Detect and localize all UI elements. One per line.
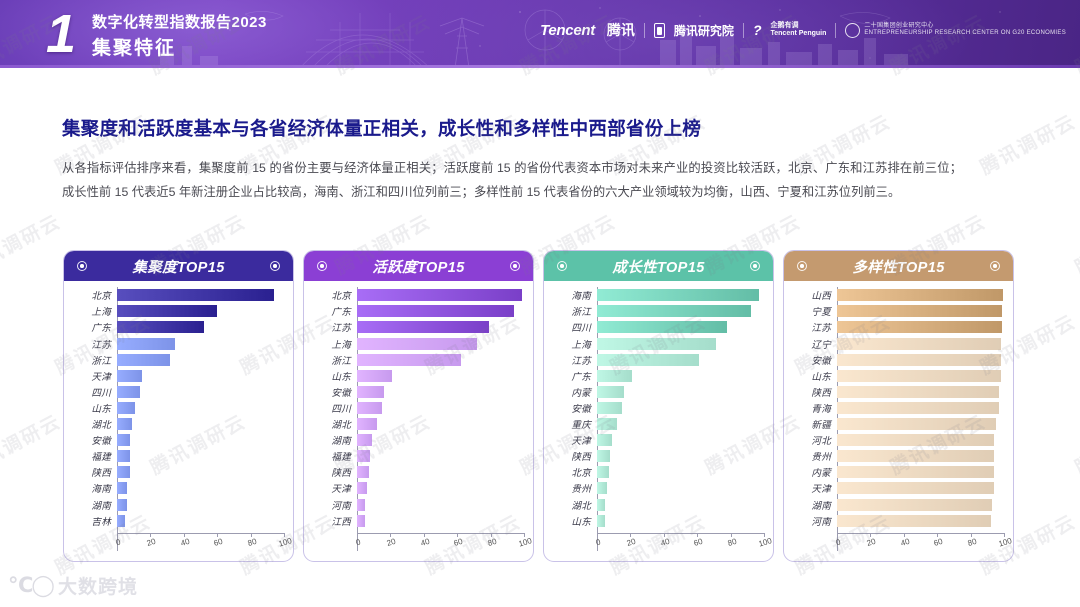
bar-row: 湖北 — [313, 417, 524, 432]
bar-row: 河南 — [793, 513, 1004, 528]
tencent-logo-text: Tencent — [540, 22, 595, 39]
section-title: 集聚特征 — [92, 33, 176, 60]
bar-row: 浙江 — [313, 352, 524, 367]
chart-plot-area: 北京上海广东江苏浙江天津四川山东湖北安徽福建陕西海南湖南吉林0204060801… — [64, 281, 293, 562]
bar-row: 海南 — [553, 288, 764, 303]
slide-page: 1 数字化转型指数报告2023 集聚特征 Tencent 腾讯 腾讯研究院 ? … — [0, 0, 1080, 607]
watermark-text: 腾讯调研云 — [0, 207, 65, 280]
chart-card-header: 集聚度TOP15 — [64, 251, 293, 281]
logo-group: Tencent 腾讯 腾讯研究院 ? 企鹅有调 Tencent Penguin … — [540, 20, 1066, 40]
bar-category-label: 江苏 — [553, 353, 597, 367]
watermark-text: 腾讯调研云 — [975, 107, 1080, 180]
x-axis-tick-label: 0 — [115, 537, 122, 547]
bar-row: 四川 — [553, 320, 764, 335]
bar-row: 河南 — [313, 497, 524, 512]
x-axis-tick-label: 100 — [998, 536, 1013, 548]
bar — [357, 338, 477, 350]
bar — [117, 321, 204, 333]
x-axis-tick — [117, 533, 118, 537]
bar — [117, 338, 175, 350]
x-axis-tick-label: 20 — [866, 537, 877, 548]
x-axis-tick — [184, 533, 185, 537]
bar-row: 广东 — [553, 368, 764, 383]
chart-card: 成长性TOP15海南浙江四川上海江苏广东内蒙安徽重庆天津陕西北京贵州湖北山东02… — [543, 250, 774, 562]
bar-track — [357, 289, 524, 301]
bar-track — [357, 515, 524, 527]
bar-track — [837, 418, 1004, 430]
bar-track — [117, 499, 284, 511]
bar — [597, 515, 605, 527]
bar — [357, 515, 365, 527]
x-axis-tick-label: 60 — [213, 537, 224, 548]
x-axis: 020406080100 — [117, 533, 284, 551]
bar-row: 吉林 — [73, 513, 284, 528]
bar-row: 安徽 — [73, 433, 284, 448]
bar — [357, 370, 392, 382]
x-axis-tick-label: 20 — [386, 537, 397, 548]
bar-category-label: 上海 — [73, 304, 117, 318]
chart-card-header: 多样性TOP15 — [784, 251, 1013, 281]
university-logo: 二十国集团创业研究中心 ENTREPRENEURSHIP RESEARCH CE… — [845, 23, 1066, 38]
bar — [357, 289, 522, 301]
bar-row: 内蒙 — [553, 385, 764, 400]
bar-row: 湖北 — [553, 497, 764, 512]
bar-track — [117, 354, 284, 366]
bar — [837, 386, 999, 398]
bar-category-label: 湖北 — [73, 417, 117, 431]
bar-track — [837, 402, 1004, 414]
bar-category-label: 湖北 — [553, 498, 597, 512]
bar-row-list: 海南浙江四川上海江苏广东内蒙安徽重庆天津陕西北京贵州湖北山东 — [553, 288, 764, 528]
bar-category-label: 江苏 — [793, 320, 837, 334]
bar — [117, 482, 127, 494]
bar-row: 上海 — [73, 304, 284, 319]
bar — [837, 321, 1002, 333]
bar — [357, 321, 489, 333]
banner-bottom-line — [0, 65, 1080, 68]
university-name-en: ENTREPRENEURSHIP RESEARCH CENTER ON G20 … — [864, 30, 1066, 37]
bar-track — [597, 418, 764, 430]
x-axis-tick-label: 0 — [355, 537, 362, 547]
bar-category-label: 上海 — [313, 337, 357, 351]
bar-category-label: 重庆 — [553, 417, 597, 431]
chart-card-header: 成长性TOP15 — [544, 251, 773, 281]
bar-row: 宁夏 — [793, 304, 1004, 319]
bar — [837, 434, 994, 446]
qiyou-logo-main: 企鹅有调 — [771, 22, 827, 30]
body-paragraph: 从各指标评估排序来看，集聚度前 15 的省份主要与经济体量正相关；活跃度前 15… — [62, 156, 962, 204]
x-axis-tick — [837, 533, 838, 537]
bar-category-label: 广东 — [313, 304, 357, 318]
x-axis-line — [117, 533, 284, 534]
chart-card-header: 活跃度TOP15 — [304, 251, 533, 281]
bar-track — [357, 386, 524, 398]
bar-category-label: 江苏 — [313, 320, 357, 334]
bar-row: 湖南 — [73, 497, 284, 512]
bar-track — [117, 482, 284, 494]
bar-track — [117, 370, 284, 382]
bar-category-label: 江西 — [313, 514, 357, 528]
bar-category-label: 上海 — [553, 337, 597, 351]
bar — [597, 434, 612, 446]
x-axis-tick-label: 20 — [626, 537, 637, 548]
bar — [357, 482, 367, 494]
bar-row: 新疆 — [793, 417, 1004, 432]
logo-divider-2 — [743, 23, 744, 38]
bar-row: 福建 — [313, 449, 524, 464]
bar-track — [357, 402, 524, 414]
bar-row: 陕西 — [793, 385, 1004, 400]
bar-category-label: 浙江 — [73, 353, 117, 367]
bar-track — [357, 499, 524, 511]
bar — [117, 386, 140, 398]
bar-row: 天津 — [313, 481, 524, 496]
bar-category-label: 北京 — [313, 288, 357, 302]
bar-category-label: 广东 — [553, 369, 597, 383]
logo-divider — [644, 23, 645, 38]
x-axis-tick — [664, 533, 665, 537]
bar — [837, 515, 991, 527]
bar — [117, 305, 217, 317]
x-axis-tick-label: 60 — [693, 537, 704, 548]
x-axis-tick — [731, 533, 732, 537]
bar-category-label: 安徽 — [73, 433, 117, 447]
bar — [837, 289, 1003, 301]
bar-row: 江苏 — [793, 320, 1004, 335]
bar — [117, 450, 130, 462]
header-dot-left-icon — [797, 261, 807, 271]
bar-row: 海南 — [73, 481, 284, 496]
header-dot-right-icon — [750, 261, 760, 271]
header-dot-right-icon — [270, 261, 280, 271]
bar — [837, 338, 1001, 350]
chart-title: 集聚度TOP15 — [132, 256, 224, 277]
header-dot-right-icon — [990, 261, 1000, 271]
bar-category-label: 四川 — [73, 385, 117, 399]
bar — [597, 321, 727, 333]
bar-track — [837, 338, 1004, 350]
bar-row: 上海 — [553, 336, 764, 351]
report-title: 数字化转型指数报告2023 — [92, 11, 267, 32]
bar-row: 四川 — [313, 401, 524, 416]
site-watermark: ℃◯ 大数跨境 — [8, 572, 138, 599]
bar-row: 湖南 — [793, 497, 1004, 512]
x-axis-line — [837, 533, 1004, 534]
tencent-logo-cn: 腾讯 — [607, 20, 635, 40]
bar-row: 贵州 — [793, 449, 1004, 464]
bar-row: 浙江 — [553, 304, 764, 319]
chart-title: 多样性TOP15 — [852, 256, 944, 277]
watermark-text: 腾讯调研云 — [1070, 407, 1080, 480]
x-axis-tick-label: 80 — [246, 537, 257, 548]
bar-row: 贵州 — [553, 481, 764, 496]
bar — [357, 305, 514, 317]
bar-category-label: 湖北 — [313, 417, 357, 431]
site-logo-icon: ℃◯ — [8, 573, 53, 598]
bar-row: 山东 — [313, 368, 524, 383]
bar-track — [597, 482, 764, 494]
bar — [597, 402, 622, 414]
bar-track — [837, 466, 1004, 478]
bar — [597, 482, 607, 494]
chart-card-row: 集聚度TOP15北京上海广东江苏浙江天津四川山东湖北安徽福建陕西海南湖南吉林02… — [63, 250, 1014, 562]
chart-title: 成长性TOP15 — [612, 256, 704, 277]
x-axis-tick-label: 40 — [660, 537, 671, 548]
x-axis-tick — [1004, 533, 1005, 537]
bar — [597, 305, 751, 317]
bar-track — [117, 515, 284, 527]
x-axis-tick — [524, 533, 525, 537]
bar-row-list: 北京广东江苏上海浙江山东安徽四川湖北湖南福建陕西天津河南江西 — [313, 288, 524, 528]
bar-row: 内蒙 — [793, 465, 1004, 480]
bar-category-label: 浙江 — [313, 353, 357, 367]
bar-category-label: 四川 — [313, 401, 357, 415]
bar-category-label: 天津 — [553, 433, 597, 447]
bar — [117, 402, 135, 414]
bar-category-label: 天津 — [793, 481, 837, 495]
bar-track — [357, 305, 524, 317]
bar-category-label: 江苏 — [73, 337, 117, 351]
penguin-icon: ? — [753, 22, 762, 38]
x-axis-tick-label: 100 — [518, 536, 533, 548]
bar-track — [597, 354, 764, 366]
header-banner: 1 数字化转型指数报告2023 集聚特征 Tencent 腾讯 腾讯研究院 ? … — [0, 0, 1080, 68]
x-axis-tick-label: 0 — [595, 537, 602, 547]
bar-row: 江西 — [313, 513, 524, 528]
bar-category-label: 陕西 — [793, 385, 837, 399]
bar-category-label: 山东 — [553, 514, 597, 528]
bar-category-label: 吉林 — [73, 514, 117, 528]
chart-plot-area: 海南浙江四川上海江苏广东内蒙安徽重庆天津陕西北京贵州湖北山东0204060801… — [544, 281, 773, 562]
header-dot-left-icon — [557, 261, 567, 271]
bar-row: 陕西 — [73, 465, 284, 480]
logo-divider-3 — [835, 23, 836, 38]
x-axis-tick — [457, 533, 458, 537]
bar-row: 安徽 — [553, 401, 764, 416]
x-axis-tick — [284, 533, 285, 537]
bar-category-label: 河北 — [793, 433, 837, 447]
bar — [837, 499, 992, 511]
bar-track — [597, 402, 764, 414]
bar-row: 辽宁 — [793, 336, 1004, 351]
bar-row: 江苏 — [553, 352, 764, 367]
bar-track — [357, 482, 524, 494]
bar-category-label: 广东 — [73, 320, 117, 334]
bar-category-label: 内蒙 — [553, 385, 597, 399]
x-axis: 020406080100 — [597, 533, 764, 551]
bar-track — [597, 499, 764, 511]
bar-row-list: 北京上海广东江苏浙江天津四川山东湖北安徽福建陕西海南湖南吉林 — [73, 288, 284, 528]
bar-track — [357, 466, 524, 478]
bar — [597, 499, 605, 511]
bar — [837, 354, 1001, 366]
x-axis: 020406080100 — [357, 533, 524, 551]
bar-row: 天津 — [793, 481, 1004, 496]
x-axis-tick-label: 80 — [486, 537, 497, 548]
bar-category-label: 山东 — [793, 369, 837, 383]
bar-track — [117, 386, 284, 398]
bar-category-label: 贵州 — [793, 449, 837, 463]
bar-track — [117, 402, 284, 414]
bar-row: 江苏 — [313, 320, 524, 335]
bar-category-label: 辽宁 — [793, 337, 837, 351]
bar-row: 广东 — [73, 320, 284, 335]
x-axis-tick — [491, 533, 492, 537]
bar — [357, 466, 369, 478]
institute-logo-text: 腾讯研究院 — [674, 22, 734, 39]
x-axis-tick-label: 0 — [835, 537, 842, 547]
x-axis-line — [357, 533, 524, 534]
bar-track — [117, 321, 284, 333]
bar-row: 山东 — [553, 513, 764, 528]
bar — [837, 450, 994, 462]
bar-track — [837, 289, 1004, 301]
x-axis-tick — [971, 533, 972, 537]
bar — [597, 354, 699, 366]
bar-category-label: 山西 — [793, 288, 837, 302]
bar-category-label: 陕西 — [73, 465, 117, 479]
bar-row: 北京 — [73, 288, 284, 303]
bar-category-label: 山东 — [313, 369, 357, 383]
bar — [597, 450, 610, 462]
bar-category-label: 湖南 — [73, 498, 117, 512]
bar-row: 四川 — [73, 385, 284, 400]
x-axis-tick — [764, 533, 765, 537]
bar-track — [837, 499, 1004, 511]
bar — [597, 289, 759, 301]
bar-row: 河北 — [793, 433, 1004, 448]
bar-track — [837, 450, 1004, 462]
bar-row: 青海 — [793, 401, 1004, 416]
bar-track — [597, 450, 764, 462]
bar-row: 湖北 — [73, 417, 284, 432]
chart-card: 集聚度TOP15北京上海广东江苏浙江天津四川山东湖北安徽福建陕西海南湖南吉林02… — [63, 250, 294, 562]
bar-category-label: 天津 — [73, 369, 117, 383]
qiyou-logo-sub: Tencent Penguin — [771, 30, 827, 38]
bar-track — [837, 386, 1004, 398]
x-axis-tick — [697, 533, 698, 537]
chart-plot-area: 山西宁夏江苏辽宁安徽山东陕西青海新疆河北贵州内蒙天津湖南河南0204060801… — [784, 281, 1013, 562]
bar-track — [837, 354, 1004, 366]
bar-category-label: 河南 — [793, 514, 837, 528]
bar-track — [117, 434, 284, 446]
bar-category-label: 海南 — [73, 481, 117, 495]
x-axis-tick-label: 80 — [966, 537, 977, 548]
bar-track — [597, 370, 764, 382]
site-watermark-text: 大数跨境 — [58, 572, 138, 599]
bar — [117, 499, 127, 511]
bar — [597, 338, 716, 350]
bar-track — [357, 321, 524, 333]
bar-track — [597, 434, 764, 446]
bar — [357, 418, 377, 430]
bar — [117, 434, 130, 446]
bar — [117, 466, 130, 478]
bar-track — [597, 515, 764, 527]
bar-category-label: 北京 — [73, 288, 117, 302]
x-axis-tick-label: 20 — [146, 537, 157, 548]
bar — [837, 466, 994, 478]
bar-track — [837, 305, 1004, 317]
bar-row: 浙江 — [73, 352, 284, 367]
header-dot-left-icon — [77, 261, 87, 271]
bar-track — [597, 386, 764, 398]
bar-category-label: 青海 — [793, 401, 837, 415]
bar-track — [117, 289, 284, 301]
bar-category-label: 湖南 — [793, 498, 837, 512]
bar-category-label: 湖南 — [313, 433, 357, 447]
x-axis-line — [597, 533, 764, 534]
bar-row: 江苏 — [73, 336, 284, 351]
x-axis-tick — [904, 533, 905, 537]
bar-track — [117, 466, 284, 478]
x-axis-tick — [937, 533, 938, 537]
watermark-text: 腾讯调研云 — [0, 407, 65, 480]
bar-category-label: 北京 — [553, 465, 597, 479]
bar — [357, 354, 461, 366]
bar-track — [837, 321, 1004, 333]
x-axis-tick-label: 60 — [453, 537, 464, 548]
bar-track — [837, 434, 1004, 446]
bar-row: 山东 — [793, 368, 1004, 383]
bar-category-label: 宁夏 — [793, 304, 837, 318]
x-axis-tick-label: 100 — [758, 536, 773, 548]
chart-title: 活跃度TOP15 — [372, 256, 464, 277]
chart-card: 活跃度TOP15北京广东江苏上海浙江山东安徽四川湖北湖南福建陕西天津河南江西02… — [303, 250, 534, 562]
x-axis-tick — [424, 533, 425, 537]
x-axis-tick — [357, 533, 358, 537]
bar-row: 重庆 — [553, 417, 764, 432]
x-axis-tick-label: 100 — [278, 536, 293, 548]
bar — [357, 450, 370, 462]
bar-track — [837, 482, 1004, 494]
bar — [117, 354, 170, 366]
bar-track — [597, 338, 764, 350]
x-axis-tick-label: 40 — [180, 537, 191, 548]
bar-row: 北京 — [553, 465, 764, 480]
bar-category-label: 河南 — [313, 498, 357, 512]
bar-category-label: 安徽 — [313, 385, 357, 399]
bar-track — [597, 289, 764, 301]
bar-track — [117, 305, 284, 317]
x-axis-tick-label: 40 — [900, 537, 911, 548]
x-axis-tick-label: 40 — [420, 537, 431, 548]
bar-category-label: 贵州 — [553, 481, 597, 495]
bar-track — [357, 370, 524, 382]
header-dot-right-icon — [510, 261, 520, 271]
bar-track — [357, 354, 524, 366]
bar-row: 山西 — [793, 288, 1004, 303]
bar-row: 山东 — [73, 401, 284, 416]
bar-track — [357, 338, 524, 350]
x-axis-tick — [597, 533, 598, 537]
bar-category-label: 海南 — [553, 288, 597, 302]
x-axis-tick-label: 60 — [933, 537, 944, 548]
bar — [837, 370, 1001, 382]
university-seal-icon — [845, 23, 860, 38]
bar-track — [117, 338, 284, 350]
bar-category-label: 浙江 — [553, 304, 597, 318]
bar — [837, 305, 1002, 317]
page-headline: 集聚度和活跃度基本与各省经济体量正相关，成长性和多样性中西部省份上榜 — [62, 115, 701, 141]
bar-category-label: 天津 — [313, 481, 357, 495]
bar — [117, 418, 132, 430]
bar-row: 安徽 — [313, 385, 524, 400]
bar — [837, 482, 994, 494]
chart-card: 多样性TOP15山西宁夏江苏辽宁安徽山东陕西青海新疆河北贵州内蒙天津湖南河南02… — [783, 250, 1014, 562]
bar-row: 安徽 — [793, 352, 1004, 367]
bar — [597, 386, 624, 398]
